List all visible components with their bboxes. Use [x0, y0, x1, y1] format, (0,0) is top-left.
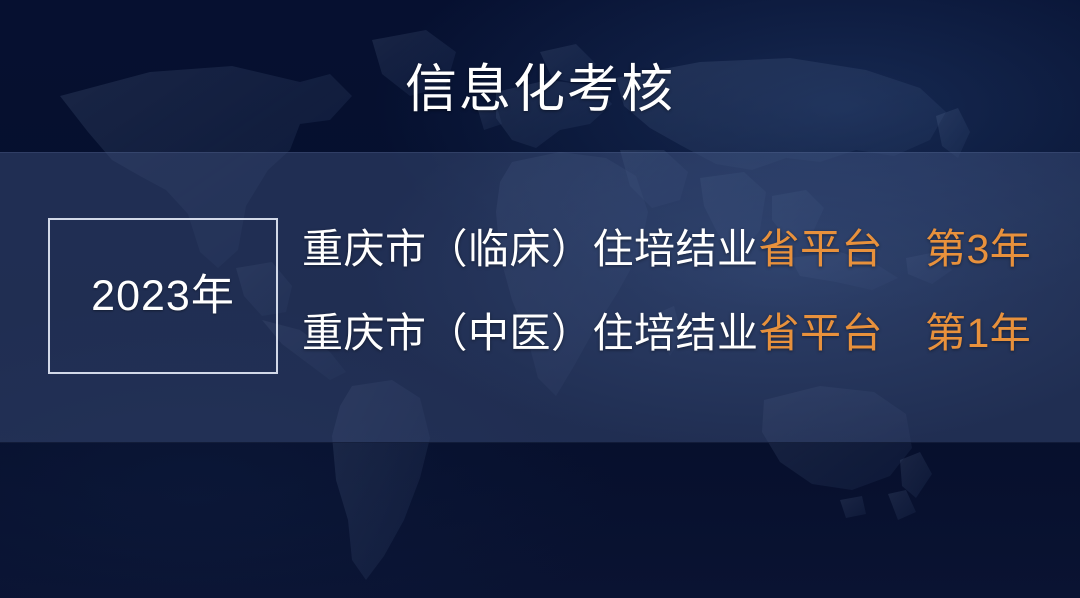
row-rank-label: 第3年 — [925, 229, 1031, 270]
row-platform-label: 省平台 — [759, 313, 884, 354]
year-badge-label: 2023年 — [91, 275, 235, 318]
year-badge: 2023年 — [48, 218, 278, 374]
row-rank-label: 第1年 — [925, 313, 1031, 354]
presentation-slide: 信息化考核 2023年 重庆市（临床）住培结业 省平台 第3年 重庆市（中医）住… — [0, 0, 1080, 598]
assessment-row: 重庆市（中医）住培结业 省平台 第1年 — [302, 313, 1042, 373]
assessment-rows: 重庆市（临床）住培结业 省平台 第3年 重庆市（中医）住培结业 省平台 第1年 — [302, 229, 1042, 373]
row-main-text: 重庆市（中医）住培结业 — [302, 313, 759, 354]
row-main-text: 重庆市（临床）住培结业 — [302, 229, 759, 270]
row-platform-label: 省平台 — [759, 229, 884, 270]
assessment-row: 重庆市（临床）住培结业 省平台 第3年 — [302, 229, 1042, 289]
page-title: 信息化考核 — [0, 62, 1080, 118]
